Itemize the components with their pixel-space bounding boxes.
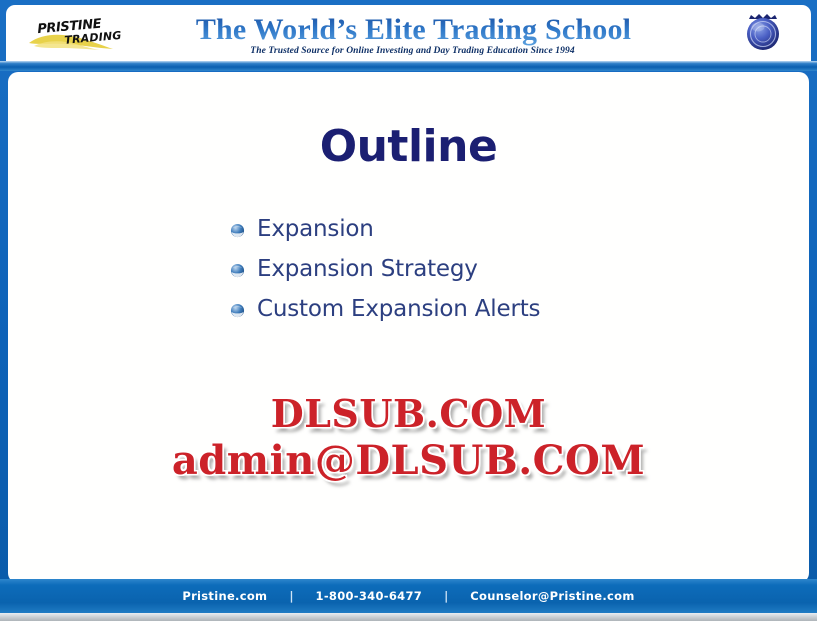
- sphere-bullet-icon: [230, 223, 245, 238]
- watermark-site: DLSUB.COM: [8, 394, 809, 434]
- outline-bullet-list: Expansion Expansion Strategy: [230, 209, 540, 329]
- presentation-slide: PRISTINE TRADING The World’s Elite Tradi…: [0, 0, 817, 621]
- watermark: DLSUB.COM admin@DLSUB.COM: [8, 394, 809, 482]
- list-item-label: Custom Expansion Alerts: [257, 296, 540, 322]
- header-title: The World’s Elite Trading School: [6, 13, 811, 47]
- pristine-seal-emblem-icon: [739, 9, 787, 57]
- footer-phone[interactable]: 1-800-340-6477: [316, 589, 423, 603]
- list-item: Custom Expansion Alerts: [230, 289, 540, 329]
- slide-footer: Pristine.com | 1-800-340-6477 | Counselo…: [0, 579, 817, 613]
- sphere-bullet-icon: [230, 263, 245, 278]
- footer-separator: |: [422, 589, 470, 603]
- list-item: Expansion: [230, 209, 540, 249]
- footer-separator: |: [267, 589, 315, 603]
- footer-website[interactable]: Pristine.com: [182, 589, 267, 603]
- page-title: Outline: [8, 121, 809, 172]
- slide-body: Outline Expansion: [8, 72, 809, 583]
- window-baseline: [0, 613, 817, 621]
- sphere-bullet-icon: [230, 303, 245, 318]
- watermark-email: admin@DLSUB.COM: [8, 440, 809, 482]
- header-tagline: The Trusted Source for Online Investing …: [6, 46, 811, 56]
- header-divider: [0, 61, 817, 71]
- list-item: Expansion Strategy: [230, 249, 540, 289]
- list-item-label: Expansion: [257, 216, 374, 242]
- slide-header: PRISTINE TRADING The World’s Elite Tradi…: [6, 5, 811, 61]
- footer-email[interactable]: Counselor@Pristine.com: [470, 589, 634, 603]
- list-item-label: Expansion Strategy: [257, 256, 478, 282]
